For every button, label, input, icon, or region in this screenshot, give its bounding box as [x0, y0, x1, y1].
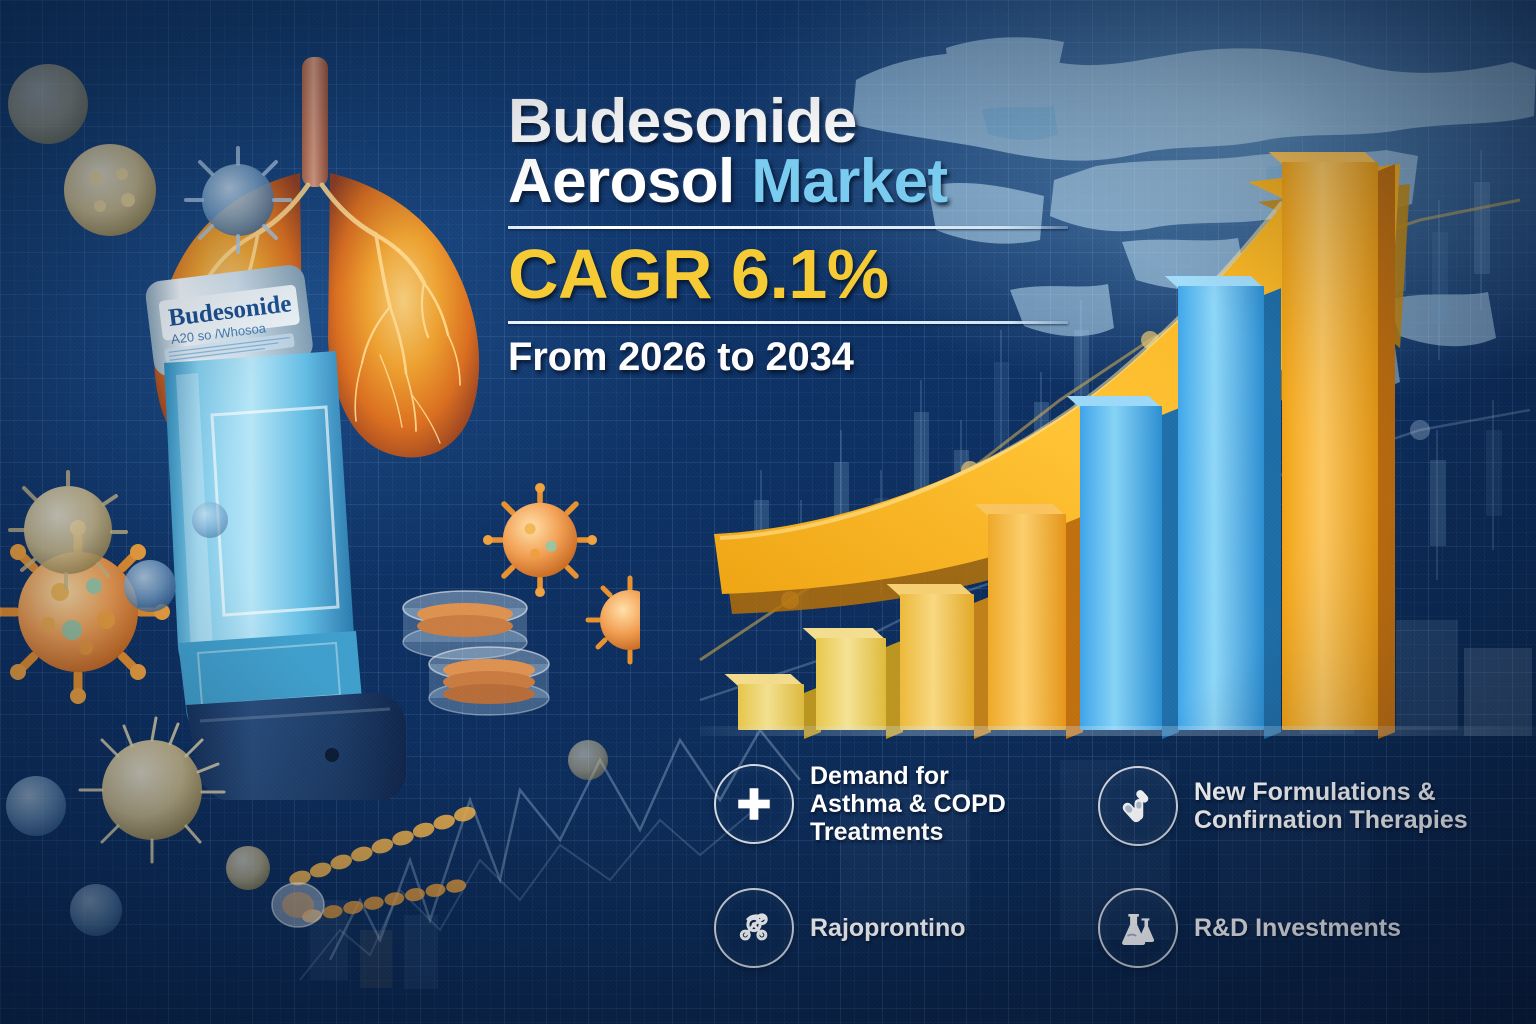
feature-label-formulations: New Formulations & Confirnation Therapie… [1194, 778, 1468, 834]
molecule-gear-icon [714, 888, 794, 968]
capsule-pills-icon [1098, 766, 1178, 846]
feature-label-rajoprontino: Rajoprontino [810, 914, 966, 942]
infographic-canvas: Budesonide A20 so /Whosoa [0, 0, 1536, 1024]
feature-item-rajoprontino[interactable]: Rajoprontino [714, 888, 1114, 968]
feature-list: Demand for Asthma & COPD Treatments [714, 762, 1520, 1012]
bar-1 [738, 684, 804, 730]
medical-cross-icon [714, 764, 794, 844]
title-line-2: Aerosol Market [508, 152, 1068, 212]
headline-block: Budesonide Aerosol Market CAGR 6.1% From… [508, 92, 1068, 380]
feature-line: Treatments [810, 818, 1006, 846]
bar-4 [988, 514, 1066, 730]
bar-2 [816, 638, 886, 730]
forecast-period: From 2026 to 2034 [508, 335, 1068, 380]
bar-7 [1282, 162, 1378, 730]
feature-item-rnd[interactable]: R&D Investments [1098, 888, 1528, 968]
title-line-1: Budesonide [508, 92, 1068, 152]
feature-line: Asthma & COPD [810, 790, 1006, 818]
feature-line: Rajoprontino [810, 914, 966, 942]
title-divider [508, 226, 1068, 229]
feature-item-formulations[interactable]: New Formulations & Confirnation Therapie… [1098, 766, 1528, 846]
bar-5 [1080, 406, 1162, 730]
chart-baseline [700, 726, 1536, 736]
cagr-divider [508, 321, 1068, 324]
cagr-value: CAGR 6.1% [508, 239, 1068, 309]
feature-line: Demand for [810, 762, 1006, 790]
lab-flask-icon [1098, 888, 1178, 968]
title-accent-word: Market [751, 147, 947, 216]
title-line-2-plain: Aerosol [508, 147, 751, 216]
bar-3 [900, 594, 974, 730]
feature-line: R&D Investments [1194, 914, 1401, 942]
feature-label-rnd: R&D Investments [1194, 914, 1401, 942]
feature-item-demand[interactable]: Demand for Asthma & COPD Treatments [714, 762, 1114, 846]
feature-label-demand: Demand for Asthma & COPD Treatments [810, 762, 1006, 846]
page-title: Budesonide Aerosol Market [508, 92, 1068, 212]
bar-6 [1178, 286, 1264, 730]
feature-line: Confirnation Therapies [1194, 806, 1468, 834]
feature-line: New Formulations & [1194, 778, 1468, 806]
